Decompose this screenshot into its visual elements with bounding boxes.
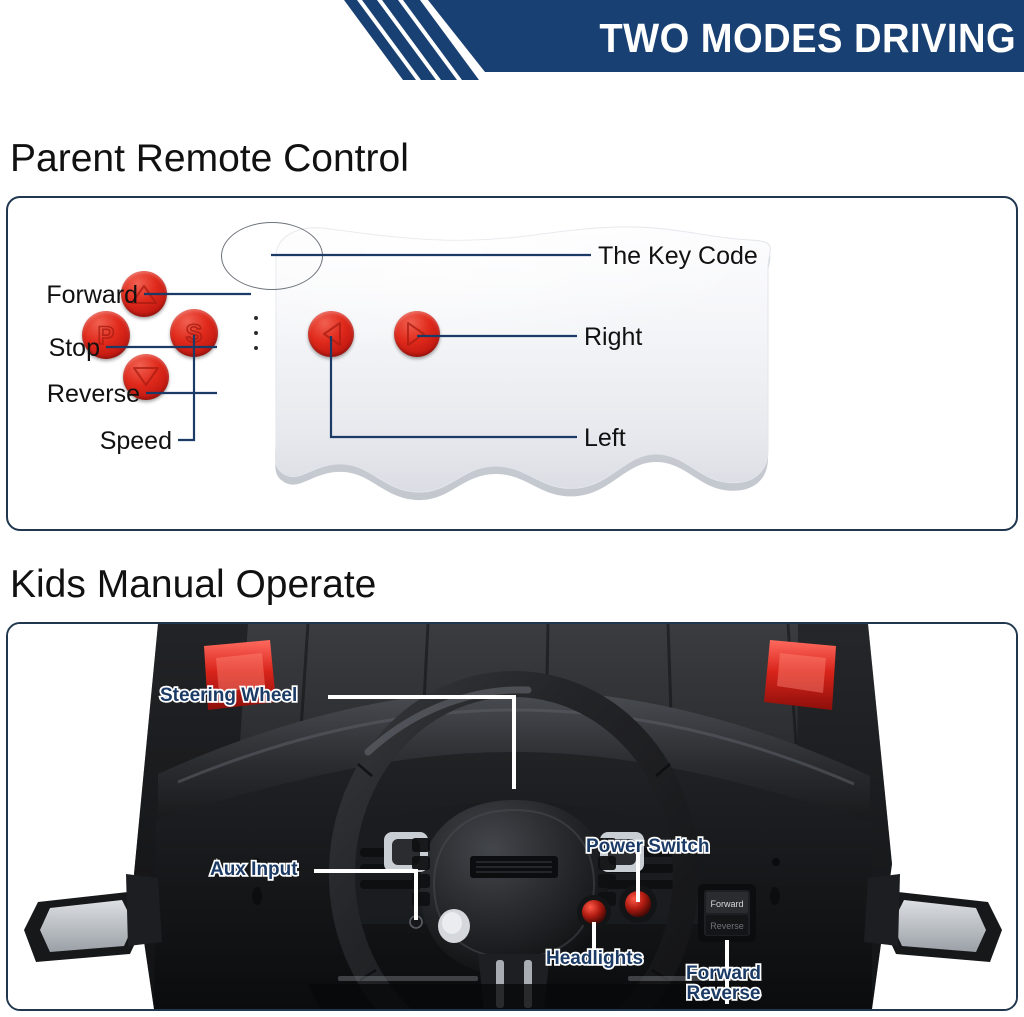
label-forward-reverse-line2: Reverse — [686, 984, 761, 1004]
headlights-button-shape — [577, 895, 611, 929]
manual-operate-panel: Forward Reverse — [6, 622, 1018, 1011]
banner-title: TWO MODES DRIVING — [599, 8, 1016, 68]
svg-text:P: P — [98, 322, 115, 349]
svg-text:Reverse: Reverse — [710, 921, 744, 931]
label-reverse: Reverse — [8, 382, 140, 407]
section-heading-manual: Kids Manual Operate — [10, 563, 376, 607]
speed-button[interactable]: S — [170, 309, 218, 357]
triangle-right-icon — [394, 311, 440, 357]
label-power-switch: Power Switch — [586, 837, 710, 857]
label-headlights: Headlights — [546, 949, 643, 969]
remote-control-panel: P S — [6, 196, 1018, 531]
label-stop: Stop — [8, 336, 100, 361]
header-banner: TWO MODES DRIVING — [0, 0, 1024, 80]
label-aux-input: Aux Input — [210, 860, 298, 880]
label-right: Right — [584, 325, 642, 350]
label-forward-reverse-line1: Forward — [686, 964, 761, 984]
section-heading-remote: Parent Remote Control — [10, 137, 409, 181]
power-switch-button-shape — [619, 885, 657, 923]
right-button[interactable] — [394, 311, 440, 357]
dashboard-illustration: Forward Reverse — [8, 624, 1016, 1009]
label-speed: Speed — [8, 429, 172, 454]
forward-reverse-switch-shape: Forward Reverse — [698, 884, 756, 942]
letter-s-icon: S — [170, 309, 218, 357]
triangle-left-icon — [308, 311, 354, 357]
label-key-code: The Key Code — [598, 244, 758, 269]
label-forward: Forward — [8, 283, 138, 308]
label-steering-wheel: Steering Wheel — [160, 686, 297, 706]
svg-text:Forward: Forward — [710, 899, 743, 909]
aux-input-jack — [410, 916, 422, 928]
remote-illustration: P S — [8, 198, 1016, 529]
taillight-right — [764, 640, 836, 710]
indicator-dots-icon — [254, 316, 258, 350]
key-code-oval-icon — [221, 222, 323, 290]
label-forward-reverse: Forward Reverse — [686, 964, 761, 1004]
label-left: Left — [584, 426, 626, 451]
left-button[interactable] — [308, 311, 354, 357]
dashboard-photo: Forward Reverse — [8, 624, 1016, 1009]
svg-text:S: S — [186, 320, 203, 347]
